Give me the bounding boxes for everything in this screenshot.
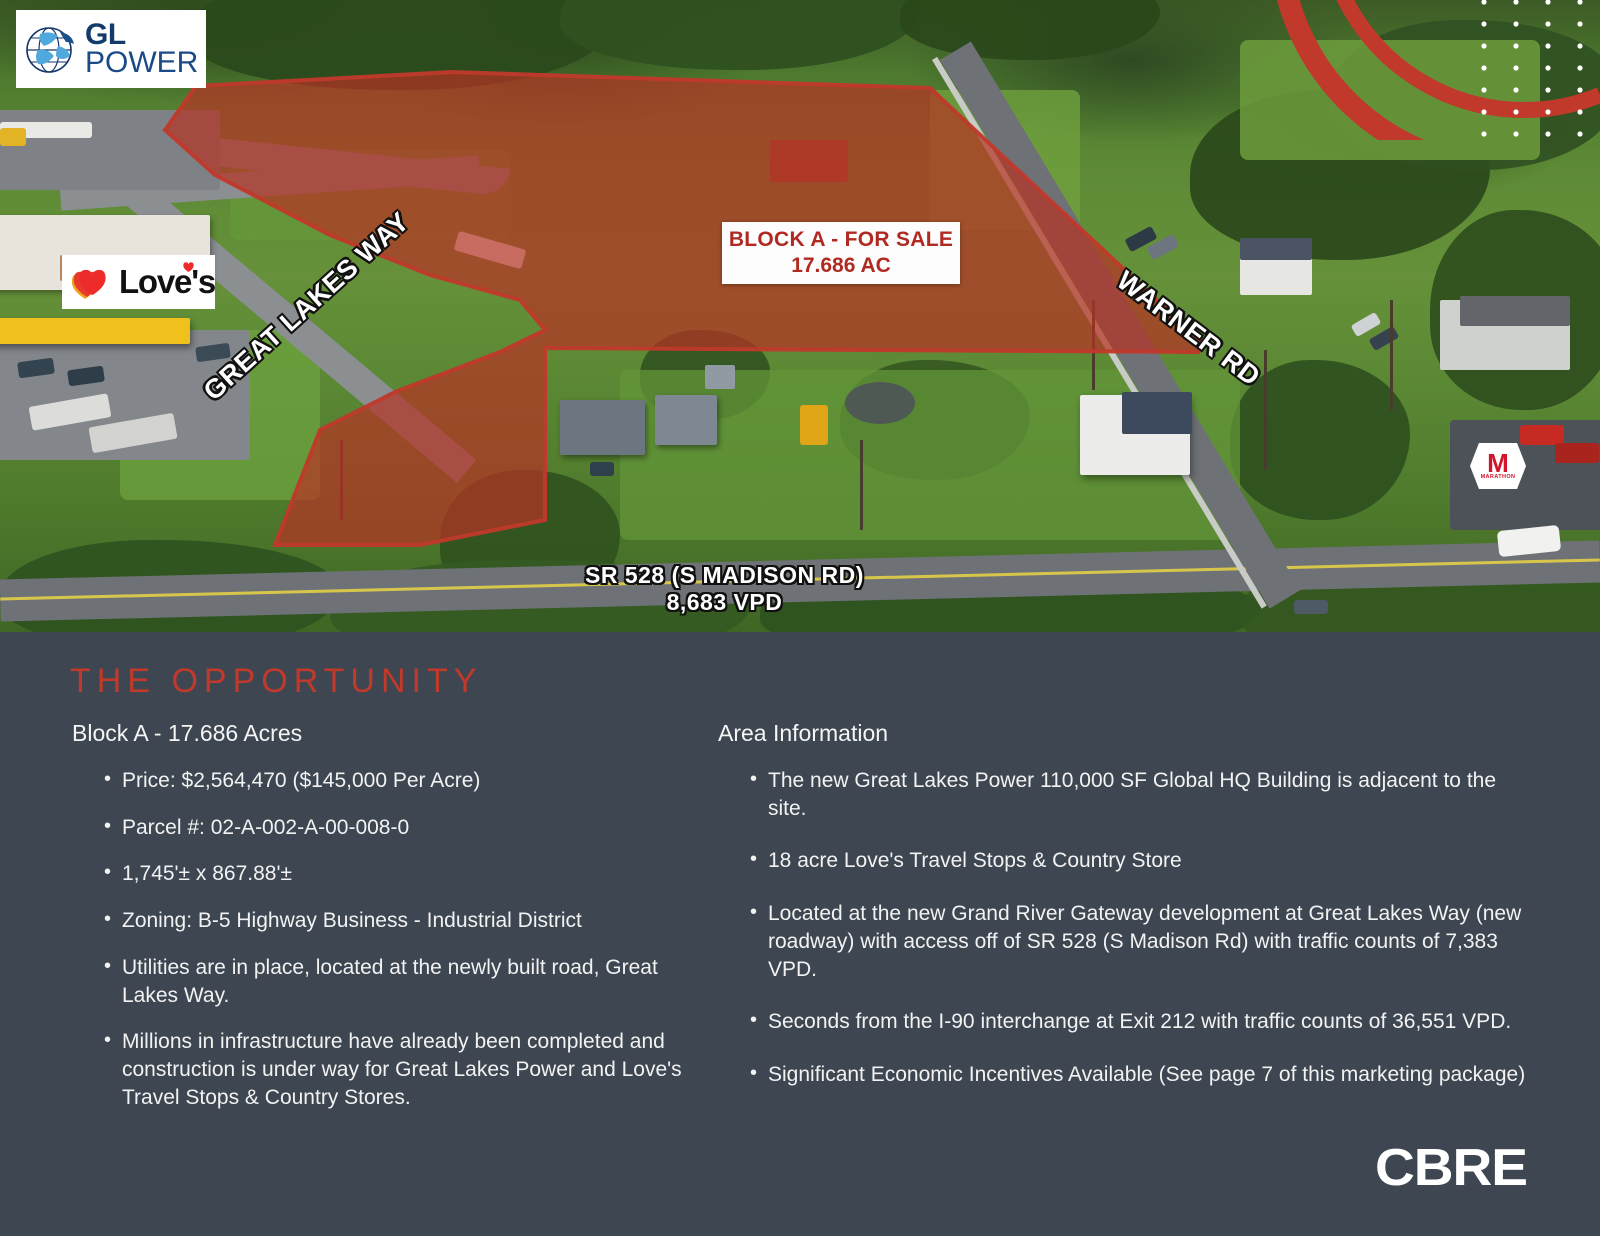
list-item: Price: $2,564,470 ($145,000 Per Acre)	[100, 767, 692, 795]
loves-wordmark: Love's	[119, 263, 215, 301]
arc-inner	[1325, 0, 1600, 110]
house-roof	[1240, 238, 1312, 260]
car	[590, 462, 614, 476]
house	[655, 395, 717, 445]
list-item: Located at the new Grand River Gateway d…	[746, 900, 1538, 983]
left-column: Block A - 17.686 Acres Price: $2,564,470…	[72, 720, 692, 1130]
list-item: Utilities are in place, located at the n…	[100, 954, 692, 1009]
list-item: Significant Economic Incentives Availabl…	[746, 1061, 1538, 1089]
block-a-callout-title: BLOCK A - FOR SALE	[729, 228, 953, 252]
list-item: Zoning: B-5 Highway Business - Industria…	[100, 907, 692, 935]
gl-power-wordmark: GL POWER	[85, 21, 198, 76]
marathon-m-letter: M	[1487, 452, 1509, 474]
list-item: 18 acre Love's Travel Stops & Country St…	[746, 847, 1538, 875]
utility-pole	[860, 440, 863, 530]
barn-roof	[1460, 296, 1570, 326]
car	[1294, 600, 1328, 614]
globe-icon	[22, 20, 80, 78]
house-roof	[1122, 392, 1192, 434]
utility-pole	[1390, 300, 1393, 410]
list-item: Parcel #: 02-A-002-A-00-008-0	[100, 814, 692, 842]
left-bullet-list: Price: $2,564,470 ($145,000 Per Acre) Pa…	[100, 767, 692, 1111]
left-column-heading: Block A - 17.686 Acres	[72, 720, 692, 747]
list-item: Seconds from the I-90 interchange at Exi…	[746, 1008, 1538, 1036]
list-item: 1,745'± x 867.88'±	[100, 860, 692, 888]
right-column-heading: Area Information	[718, 720, 1538, 747]
heart-icon	[70, 262, 115, 302]
shed	[705, 365, 735, 389]
loves-logo: Love's	[62, 255, 215, 309]
list-item: Millions in infrastructure have already …	[100, 1028, 692, 1111]
fuel-canopy	[0, 318, 190, 344]
right-bullet-list: The new Great Lakes Power 110,000 SF Glo…	[746, 767, 1538, 1089]
label-sr528-line1: SR 528 (S MADISON RD)	[585, 562, 864, 588]
cbre-logo: CBRE	[1375, 1138, 1527, 1198]
arc-outer	[1280, 0, 1600, 140]
gl-logo-line2: POWER	[85, 49, 198, 77]
excavator	[800, 405, 828, 445]
utility-pole	[1092, 300, 1095, 390]
house	[560, 400, 645, 455]
block-a-callout: BLOCK A - FOR SALE 17.686 AC	[722, 222, 960, 284]
corner-arc-decoration	[1270, 0, 1600, 140]
section-title: THE OPPORTUNITY	[70, 662, 482, 701]
tree-mass	[1230, 360, 1410, 520]
pond	[845, 382, 915, 424]
label-sr528-road: SR 528 (S MADISON RD) 8,683 VPD	[585, 562, 864, 616]
label-sr528-line2: 8,683 VPD	[585, 589, 864, 616]
heart-apostrophe-icon	[182, 261, 195, 274]
list-item: The new Great Lakes Power 110,000 SF Glo…	[746, 767, 1538, 822]
opportunity-info-panel: THE OPPORTUNITY Block A - 17.686 Acres P…	[0, 632, 1600, 1236]
block-a-callout-acreage: 17.686 AC	[791, 254, 891, 278]
marathon-wordmark: MARATHON	[1481, 474, 1516, 480]
gl-power-logo: GL POWER	[16, 10, 206, 88]
right-column: Area Information The new Great Lakes Pow…	[718, 720, 1538, 1114]
pickup-truck	[1520, 425, 1564, 445]
semi-truck	[0, 128, 26, 146]
pickup-truck	[1555, 443, 1599, 463]
building	[770, 140, 848, 182]
gl-logo-line1: GL	[85, 21, 198, 49]
aerial-site-photo: GL POWER Love's M MARATHON GREAT LAKES W…	[0, 0, 1600, 632]
utility-pole	[340, 440, 343, 520]
marathon-logo: M MARATHON	[1470, 443, 1526, 489]
